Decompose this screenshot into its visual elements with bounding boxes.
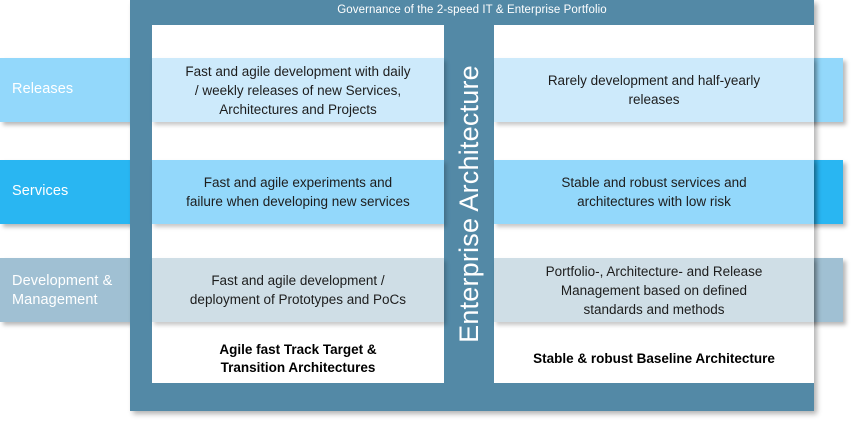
cell-stable-services: Stable and robust services and architect… — [494, 160, 814, 224]
caption-stable-baseline: Stable & robust Baseline Architecture — [494, 338, 814, 380]
cell-stable-development-management: Portfolio-, Architecture- and Release Ma… — [494, 258, 814, 322]
cell-agile-releases: Fast and agile development with daily / … — [152, 58, 444, 122]
diagram-canvas: Releases Services Development & Manageme… — [0, 0, 862, 436]
row-label-services: Services — [12, 182, 68, 201]
enterprise-architecture-label: Enterprise Architecture — [444, 25, 494, 383]
row-label-releases: Releases — [12, 80, 73, 99]
cell-agile-services: Fast and agile experiments and failure w… — [152, 160, 444, 224]
panel-title: Governance of the 2-speed IT & Enterpris… — [130, 4, 814, 16]
enterprise-architecture-band: Enterprise Architecture — [444, 25, 494, 383]
row-label-development-management: Development & Management — [12, 272, 112, 310]
cell-stable-releases: Rarely development and half-yearly relea… — [494, 58, 814, 122]
cell-agile-development-management: Fast and agile development / deployment … — [152, 258, 444, 322]
caption-agile-target: Agile fast Track Target & Transition Arc… — [152, 338, 444, 380]
